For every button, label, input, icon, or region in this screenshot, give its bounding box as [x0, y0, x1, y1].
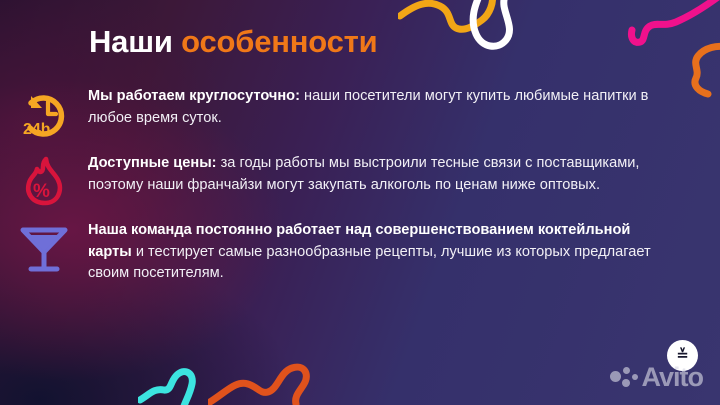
feature-text: Мы работаем круглосуточно: наши посетите… [88, 86, 654, 129]
cocktail-glass-icon [19, 222, 69, 274]
feature-icon-wrapper [0, 220, 88, 274]
feature-icon-wrapper: 24h [0, 86, 88, 140]
squiggle-cyan-bottom-icon [138, 360, 200, 405]
avito-watermark: Avito [610, 364, 704, 391]
feature-list: 24h Мы работаем круглосуточно: наши посе… [0, 86, 720, 298]
clock-24h-label: 24h [23, 121, 51, 138]
feature-text: Наша команда постоянно работает над сове… [88, 220, 654, 285]
feature-item-affordable-prices: % Доступные цены: за годы работы мы выст… [0, 153, 720, 207]
flame-percent-icon: % [21, 155, 67, 207]
squiggle-pink-top-right-icon [626, 0, 720, 50]
feature-item-cocktail-team: Наша команда постоянно работает над сове… [0, 220, 720, 285]
squiggle-yellow-top-icon [398, 0, 508, 50]
page-title: Наши особенности [89, 24, 378, 60]
feature-item-round-the-clock: 24h Мы работаем круглосуточно: наши посе… [0, 86, 720, 140]
slide-canvas: Наши особенности 24h Мы работаем круглос… [0, 0, 720, 405]
feature-text: Доступные цены: за годы работы мы выстро… [88, 153, 654, 196]
page-title-white: Наши [89, 24, 173, 59]
squiggle-white-top-icon [462, 0, 526, 60]
feature-body: и тестирует самые разнообразные рецепты,… [88, 244, 651, 282]
avito-wordmark: Avito [642, 364, 704, 391]
avito-dots-icon [610, 367, 640, 389]
squiggle-orange-bottom-icon [208, 358, 318, 405]
feature-lead: Мы работаем круглосуточно: [88, 88, 300, 104]
feature-lead: Доступные цены: [88, 155, 217, 171]
logo-badge-glyph: ≚ [676, 348, 689, 363]
page-title-orange: особенности [181, 24, 377, 59]
flame-percent-label: % [33, 181, 50, 202]
feature-icon-wrapper: % [0, 153, 88, 207]
clock-24h-icon: 24h [18, 88, 70, 140]
